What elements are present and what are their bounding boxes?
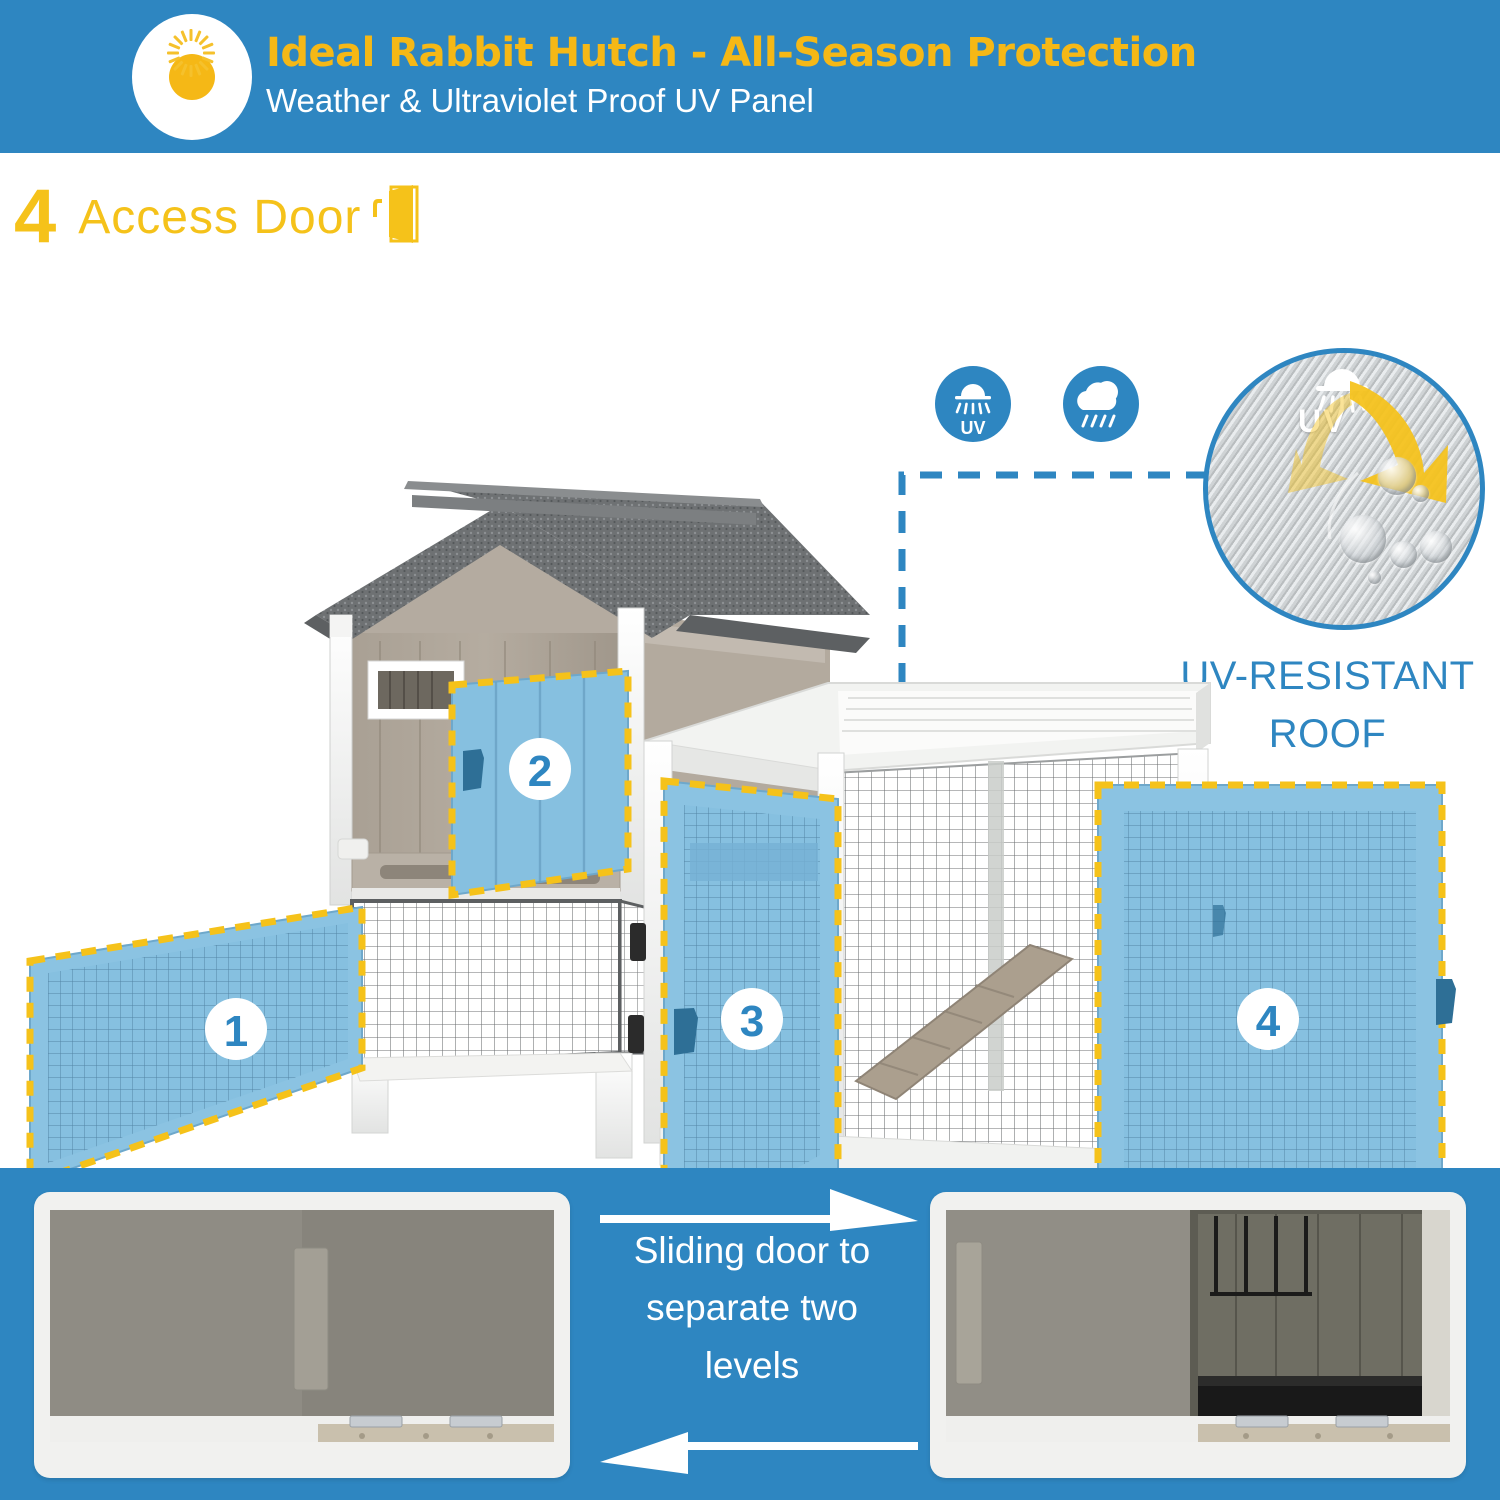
photo-right-inner bbox=[946, 1210, 1450, 1442]
door-badge-2: 2 bbox=[528, 747, 552, 796]
page-subtitle: Weather & Ultraviolet Proof UV Panel bbox=[266, 80, 1197, 121]
hutch-post-left bbox=[330, 615, 352, 905]
tray-latch bbox=[338, 839, 368, 859]
sun-icon bbox=[132, 14, 252, 140]
door-4-run-side bbox=[1098, 785, 1456, 1168]
door-2-latch bbox=[463, 749, 484, 791]
sliding-door-caption-line2: separate two bbox=[592, 1279, 912, 1336]
door-1-front-left-run bbox=[30, 907, 362, 1168]
door-badge-4: 4 bbox=[1256, 997, 1281, 1046]
header-text-block: Ideal Rabbit Hutch - All-Season Protecti… bbox=[266, 32, 1197, 121]
run-divider-post bbox=[988, 761, 1004, 1091]
page-title: Ideal Rabbit Hutch - All-Season Protecti… bbox=[266, 32, 1197, 74]
rabbit-hutch-illustration: 1 2 3 4 bbox=[0, 153, 1500, 1168]
door-4-latch bbox=[1436, 979, 1456, 1025]
hutch-base-rail bbox=[352, 1053, 632, 1081]
arrow-left-icon bbox=[600, 1428, 920, 1480]
hinge bbox=[630, 923, 646, 961]
hutch-lower-mesh-front bbox=[352, 901, 620, 1065]
sliding-door-caption: Sliding door to separate two levels bbox=[592, 1222, 912, 1394]
photo-left-inner bbox=[50, 1210, 554, 1442]
header-banner: Ideal Rabbit Hutch - All-Season Protecti… bbox=[0, 0, 1500, 153]
hinge bbox=[628, 1015, 644, 1053]
door-3-run-front bbox=[664, 781, 838, 1168]
door-3-latch bbox=[674, 1008, 698, 1055]
sliding-door-caption-line3: levels bbox=[592, 1337, 912, 1394]
photo-sliding-door-closed bbox=[34, 1192, 570, 1478]
sliding-door-caption-line1: Sliding door to bbox=[592, 1222, 912, 1279]
door-badge-1: 1 bbox=[224, 1007, 248, 1056]
infographic-page: Ideal Rabbit Hutch - All-Season Protecti… bbox=[0, 0, 1500, 1500]
photo-sliding-door-open bbox=[930, 1192, 1466, 1478]
header-content: Ideal Rabbit Hutch - All-Season Protecti… bbox=[0, 14, 1197, 140]
main-content: 4 Access Door bbox=[0, 153, 1500, 1168]
door-badge-3: 3 bbox=[740, 997, 764, 1046]
